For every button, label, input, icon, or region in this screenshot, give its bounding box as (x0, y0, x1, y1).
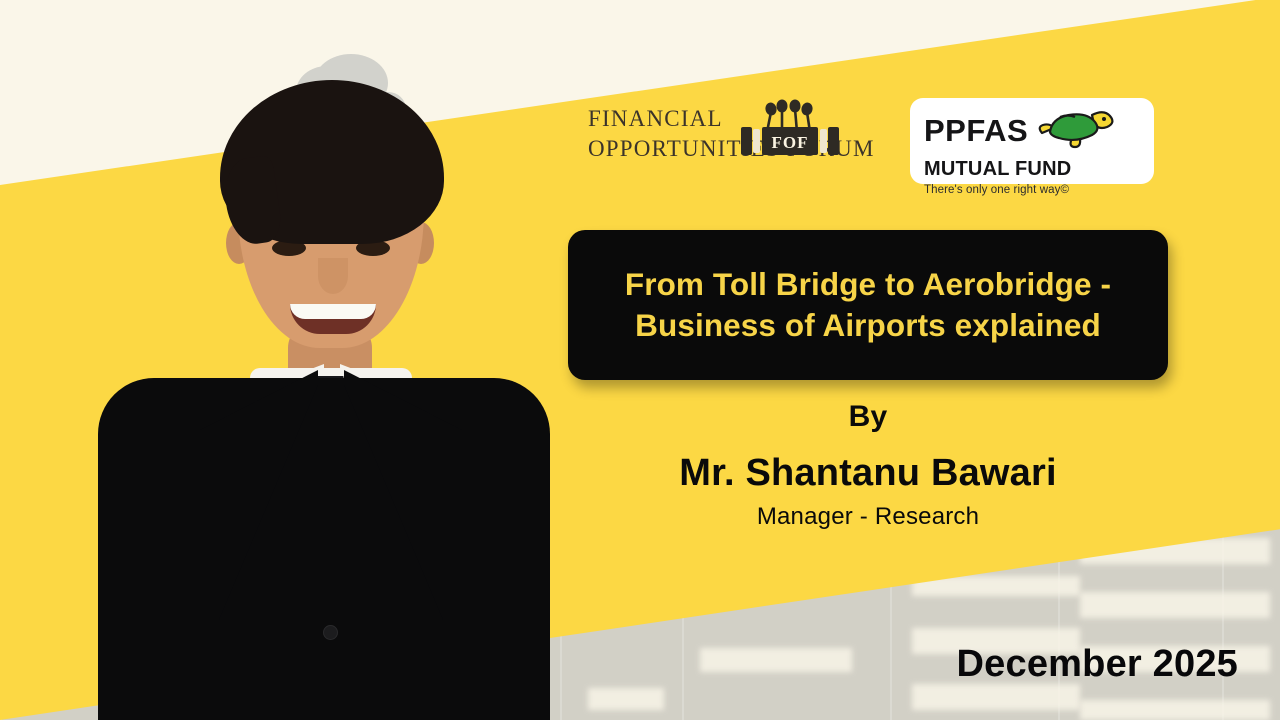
tortoise-icon (1034, 106, 1118, 155)
presentation-slide: FINANCIAL OPPORTUNITIES FORUM FOF (0, 0, 1280, 720)
svg-text:FOF: FOF (772, 133, 809, 152)
ppfas-logo-name: PPFAS (924, 115, 1028, 146)
ppfas-logo-tagline: There's only one right way© (924, 184, 1154, 196)
presenter-role: Manager - Research (568, 503, 1168, 531)
presenter-block: By Mr. Shantanu Bawari Manager - Researc… (568, 400, 1168, 531)
title-line-1: From Toll Bridge to Aerobridge - (625, 264, 1111, 305)
presenter-photo (60, 26, 580, 720)
podium-microphones-icon: FOF (737, 96, 843, 158)
ppfas-logo-subtitle: MUTUAL FUND (924, 159, 1154, 179)
slide-date: December 2025 (957, 643, 1238, 686)
title-card: From Toll Bridge to Aerobridge - Busines… (568, 230, 1168, 380)
presenter-name: Mr. Shantanu Bawari (568, 452, 1168, 495)
title-line-2: Business of Airports explained (635, 305, 1101, 346)
ppfas-logo: PPFAS MUTUAL FUND There's only one right… (910, 98, 1154, 184)
by-label: By (568, 400, 1168, 434)
